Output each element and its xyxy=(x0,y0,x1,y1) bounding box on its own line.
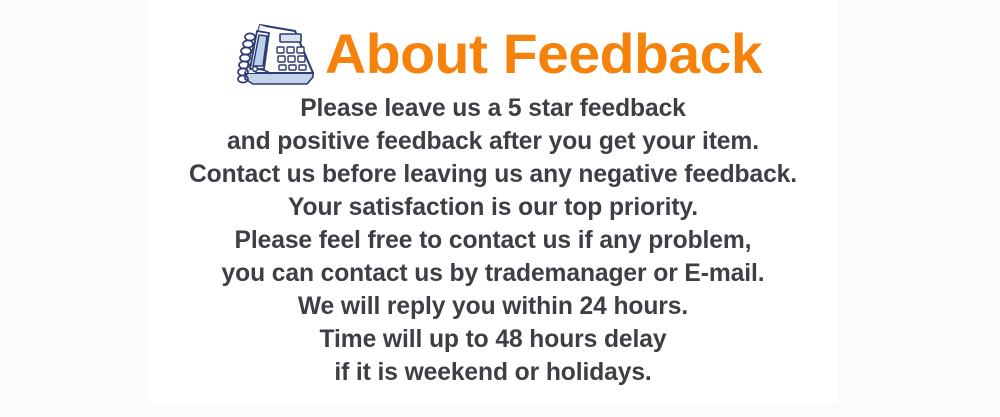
message-line: you can contact us by trademanager or E-… xyxy=(163,257,823,290)
message-line: We will reply you within 24 hours. xyxy=(163,290,823,323)
message-line: Please leave us a 5 star feedback xyxy=(163,92,823,125)
message-line: Contact us before leaving us any negativ… xyxy=(163,158,823,191)
message-line: Time will up to 48 hours delay xyxy=(163,323,823,356)
banner-header: About Feedback xyxy=(148,14,838,94)
about-feedback-banner: About Feedback Please leave us a 5 star … xyxy=(0,0,1000,417)
feedback-message: Please leave us a 5 star feedback and po… xyxy=(158,92,828,389)
fax-telephone-icon xyxy=(233,17,319,91)
message-line: and positive feedback after you get your… xyxy=(163,125,823,158)
page-title: About Feedback xyxy=(325,26,762,82)
content-panel: About Feedback Please leave us a 5 star … xyxy=(148,0,838,404)
message-line: if it is weekend or holidays. xyxy=(163,356,823,389)
message-line: Please feel free to contact us if any pr… xyxy=(163,224,823,257)
message-line: Your satisfaction is our top priority. xyxy=(163,191,823,224)
